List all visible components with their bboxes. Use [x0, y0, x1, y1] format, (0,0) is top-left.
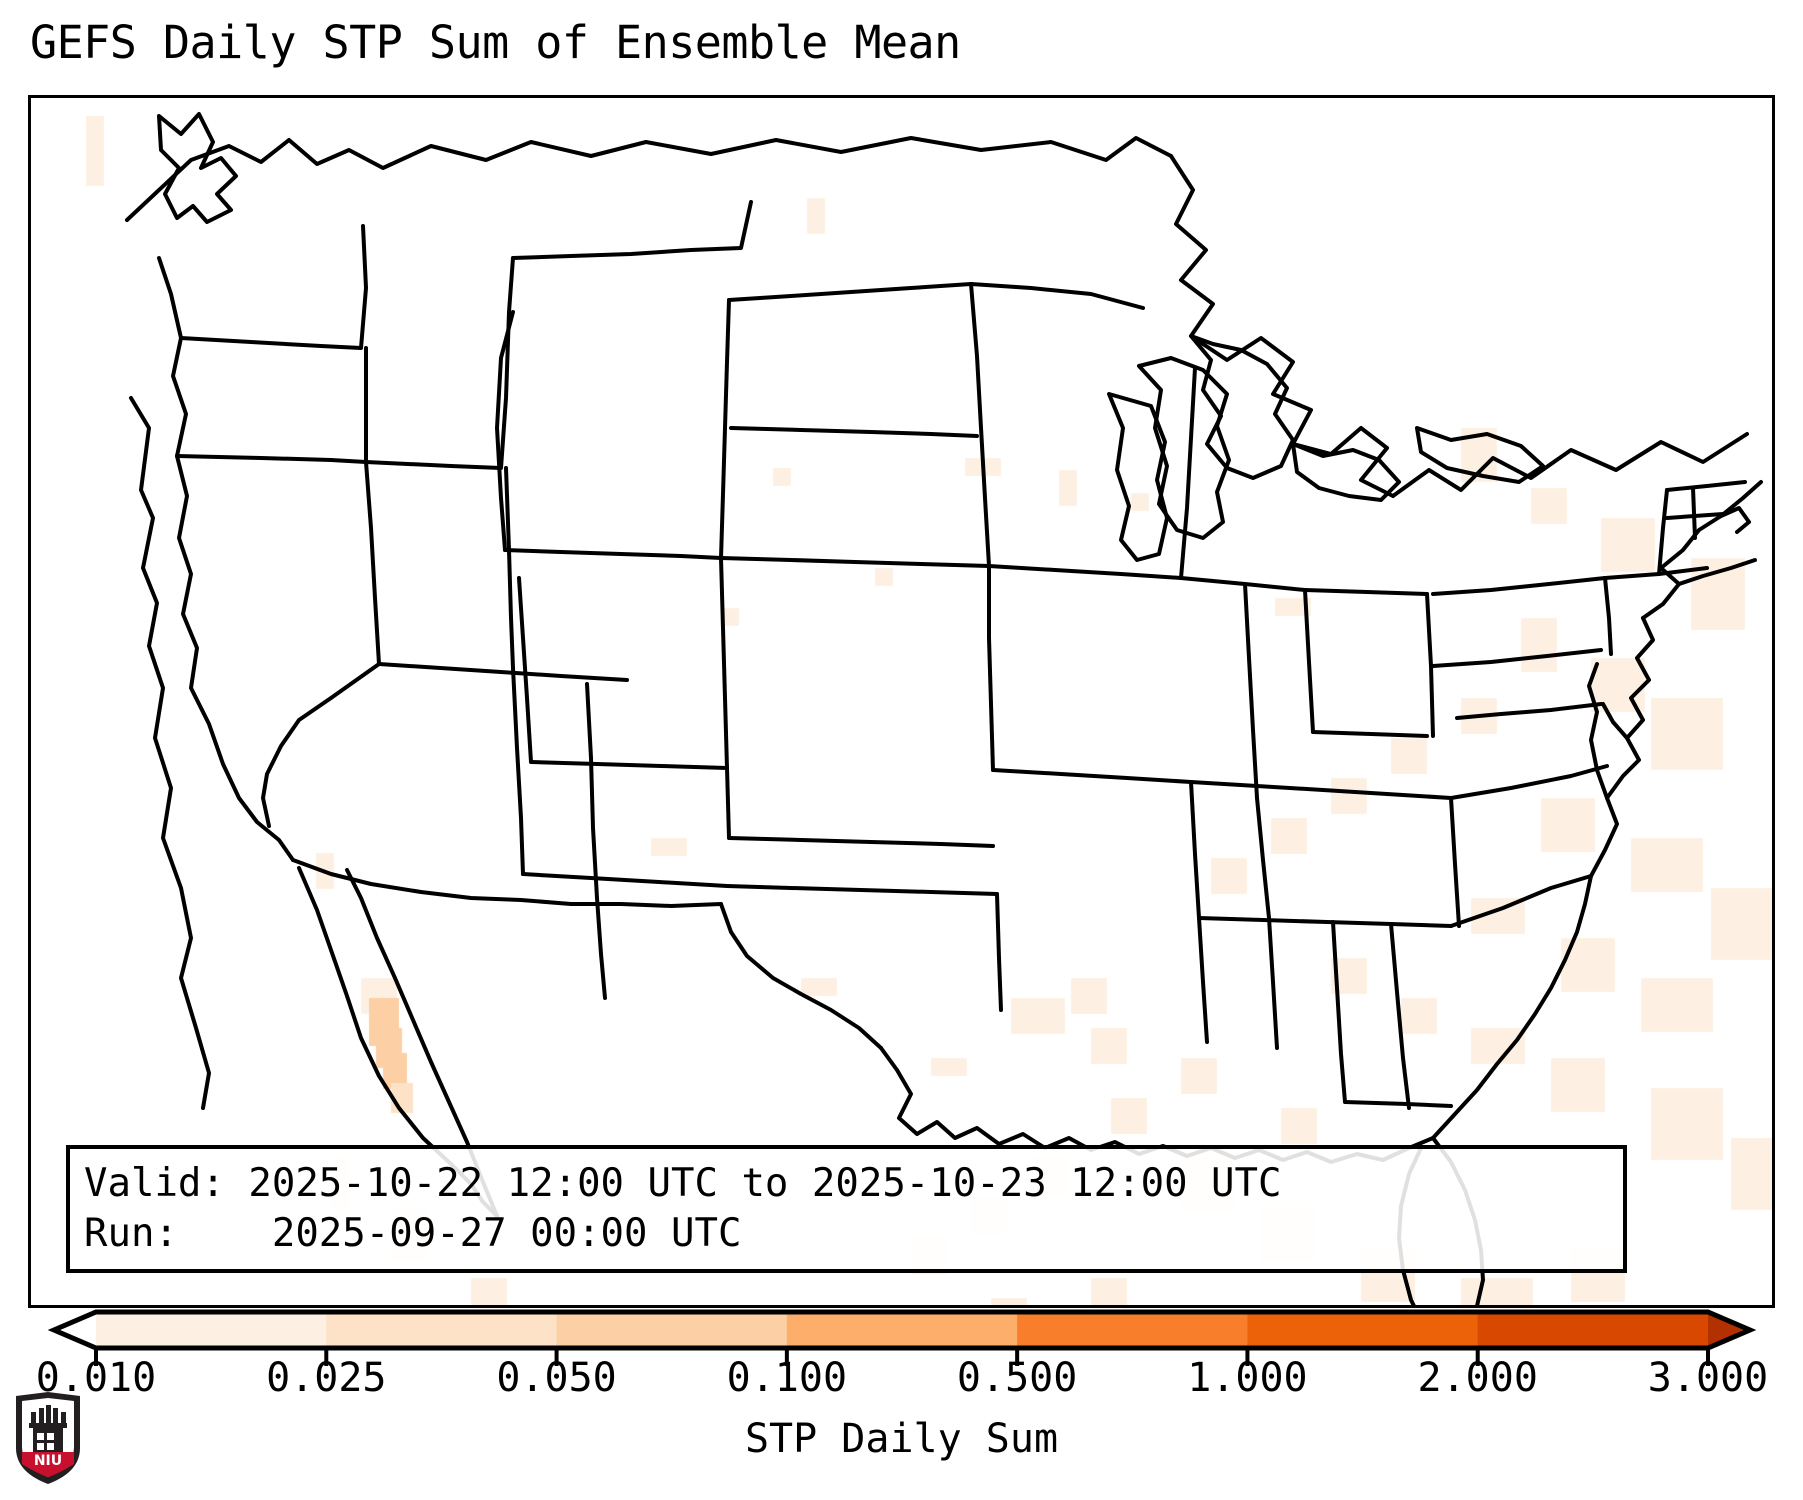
colorbar-axis-label: STP Daily Sum [0, 1416, 1803, 1462]
colorbar-tick-label: 3.000 [1648, 1356, 1768, 1400]
colorbar-tick-label: 0.050 [496, 1356, 616, 1400]
colorbar-tick-label: 0.025 [266, 1356, 386, 1400]
valid-time-line: Valid: 2025-10-22 12:00 UTC to 2025-10-2… [84, 1159, 1623, 1209]
run-time-line: Run: 2025-09-27 00:00 UTC [84, 1209, 1623, 1259]
map-axes[interactable] [28, 95, 1775, 1308]
colorbar-tick-label: 0.500 [957, 1356, 1077, 1400]
map-geography-layer [31, 98, 1772, 1305]
niu-logo: NIU [12, 1390, 84, 1486]
niu-logo-text: NIU [34, 1453, 62, 1469]
page-title: GEFS Daily STP Sum of Ensemble Mean [30, 16, 961, 70]
colorbar-tick-label: 0.100 [727, 1356, 847, 1400]
colorbar-tick-label: 2.000 [1417, 1356, 1537, 1400]
colorbar-region[interactable]: 0.0100.0250.0500.1000.5001.0002.0003.000… [0, 1308, 1803, 1500]
colorbar-tick-label: 1.000 [1187, 1356, 1307, 1400]
valid-run-info-box: Valid: 2025-10-22 12:00 UTC to 2025-10-2… [66, 1145, 1627, 1273]
